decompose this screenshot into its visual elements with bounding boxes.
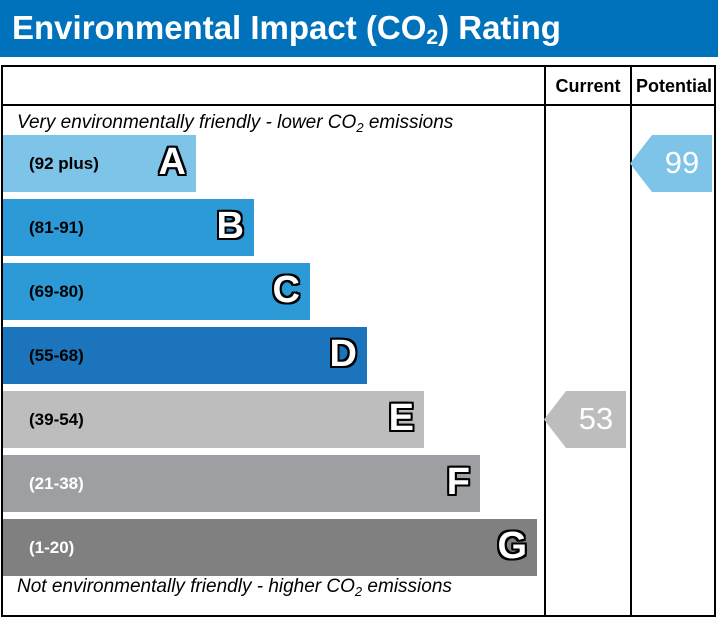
potential-column-divider xyxy=(630,67,632,615)
rating-band-c: (69-80)C xyxy=(3,263,310,320)
band-letter-b: B xyxy=(217,199,244,256)
column-header-potential: Potential xyxy=(632,76,716,97)
caption-top-suffix: emissions xyxy=(364,112,454,133)
band-letter-g: G xyxy=(497,519,527,576)
band-letter-d: D xyxy=(330,327,357,384)
caption-bottom-suffix: emissions xyxy=(362,576,452,597)
caption-bottom-prefix: Not environmentally friendly - higher CO xyxy=(17,576,355,597)
title-prefix: Environmental Impact (CO xyxy=(12,9,426,46)
caption-top-prefix: Very environmentally friendly - lower CO xyxy=(17,112,356,133)
band-letter-a: A xyxy=(159,135,186,192)
band-range-a: (92 plus) xyxy=(29,135,99,192)
band-letter-f: F xyxy=(447,455,470,512)
band-range-c: (69-80) xyxy=(29,263,84,320)
page-title: Environmental Impact (CO2) Rating xyxy=(12,5,561,56)
current-column-divider xyxy=(544,67,546,615)
band-letter-c: C xyxy=(273,263,300,320)
caption-top: Very environmentally friendly - lower CO… xyxy=(17,112,453,134)
environmental-impact-rating-chart: Environmental Impact (CO2) Rating Curren… xyxy=(0,0,718,619)
title-suffix: ) Rating xyxy=(438,9,561,46)
band-range-g: (1-20) xyxy=(29,519,74,576)
current-rating-value: 53 xyxy=(566,391,626,448)
rating-band-b: (81-91)B xyxy=(3,199,254,256)
column-header-current: Current xyxy=(546,76,630,97)
rating-band-g: (1-20)G xyxy=(3,519,537,576)
band-range-b: (81-91) xyxy=(29,199,84,256)
caption-bottom: Not environmentally friendly - higher CO… xyxy=(17,576,452,598)
rating-table: Current Potential Very environmentally f… xyxy=(1,65,716,617)
chart-title-bar: Environmental Impact (CO2) Rating xyxy=(0,0,718,57)
rating-band-d: (55-68)D xyxy=(3,327,367,384)
caption-bottom-subscript: 2 xyxy=(355,584,362,599)
title-subscript: 2 xyxy=(426,26,438,49)
rating-band-e: (39-54)E xyxy=(3,391,424,448)
rating-band-a: (92 plus)A xyxy=(3,135,196,192)
band-range-d: (55-68) xyxy=(29,327,84,384)
potential-rating-arrow: 99 xyxy=(630,135,712,192)
header-divider xyxy=(3,104,714,106)
band-range-e: (39-54) xyxy=(29,391,84,448)
rating-band-f: (21-38)F xyxy=(3,455,480,512)
band-letter-e: E xyxy=(389,391,414,448)
potential-rating-value: 99 xyxy=(652,135,712,192)
band-range-f: (21-38) xyxy=(29,455,84,512)
caption-top-subscript: 2 xyxy=(356,120,363,135)
current-rating-arrow: 53 xyxy=(544,391,626,448)
